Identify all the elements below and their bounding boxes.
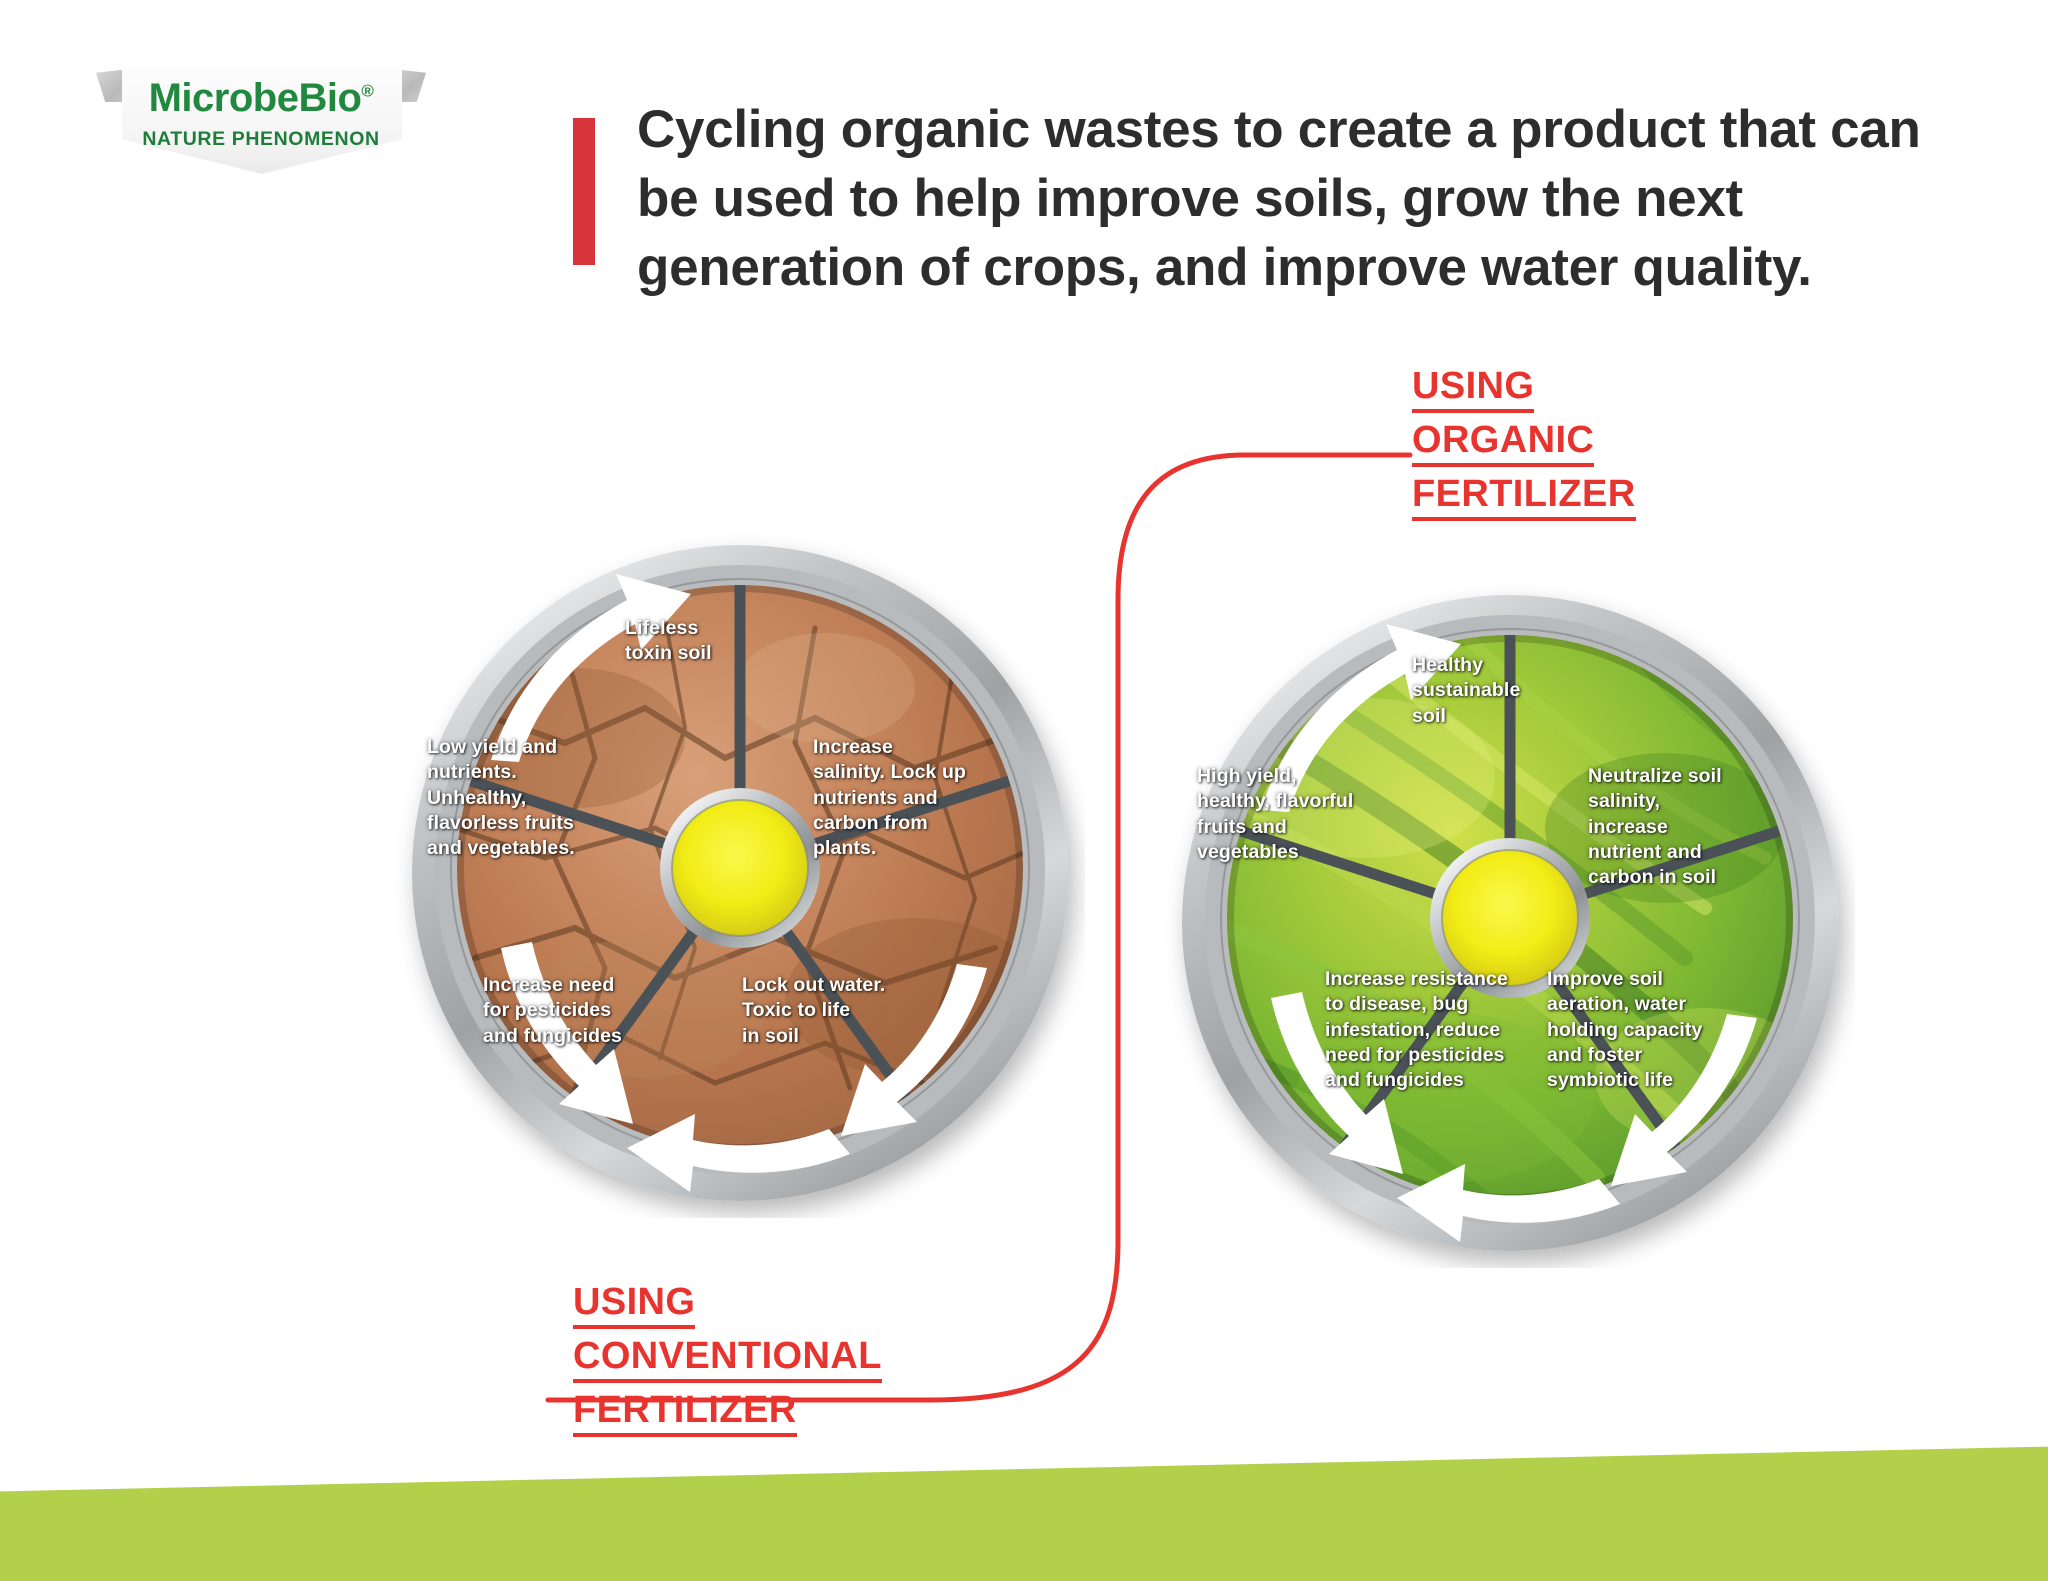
page-headline: Cycling organic wastes to create a produ… — [637, 96, 1967, 303]
organic-fertilizer-wheel: Healthy sustainable soil Neutralize soil… — [1165, 578, 1855, 1268]
conventional-heading-line-2: CONVENTIONAL — [573, 1337, 882, 1383]
segment-label-bottom-left: Increase resistance to disease, bug infe… — [1325, 967, 1550, 1094]
conventional-heading-line-1: USING — [573, 1283, 695, 1329]
brand-logo: MicrobeBio® NATURE PHENOMENON — [96, 48, 426, 208]
organic-heading-line-1: USING — [1412, 367, 1534, 413]
organic-heading-line-2: ORGANIC — [1412, 421, 1594, 467]
segment-label-bottom-left: Increase need for pesticides and fungici… — [483, 973, 698, 1049]
segment-label-top: Healthy sustainable soil — [1412, 653, 1592, 729]
organic-heading-line-3: FERTILIZER — [1412, 475, 1636, 521]
conventional-heading-line-3: FERTILIZER — [573, 1391, 797, 1437]
logo-wordmark: MicrobeBio® — [96, 76, 426, 121]
segment-label-left: High yield, healthy, flavorful fruits an… — [1197, 764, 1397, 865]
segment-label-bottom-right: Improve soil aeration, water holding cap… — [1547, 967, 1747, 1094]
headline-accent-bar — [573, 118, 595, 265]
segment-label-left: Low yield and nutrients. Unhealthy, flav… — [427, 735, 632, 862]
segment-label-right: Increase salinity. Lock up nutrients and… — [813, 735, 1023, 862]
conventional-fertilizer-wheel: Lifeless toxin soil Increase salinity. L… — [395, 528, 1085, 1218]
logo-tagline: NATURE PHENOMENON — [96, 128, 426, 151]
logo-wordmark-text: MicrobeBio — [149, 76, 362, 120]
registered-trademark-icon: ® — [361, 82, 373, 101]
segment-label-bottom-right: Lock out water. Toxic to life in soil — [742, 973, 937, 1049]
segment-label-top: Lifeless toxin soil — [625, 616, 815, 667]
segment-label-right: Neutralize soil salinity, increase nutri… — [1588, 764, 1788, 891]
conventional-section-heading: USING CONVENTIONAL FERTILIZER — [573, 1283, 882, 1445]
organic-section-heading: USING ORGANIC FERTILIZER — [1412, 367, 1636, 529]
footer-green-band — [0, 1421, 2048, 1581]
